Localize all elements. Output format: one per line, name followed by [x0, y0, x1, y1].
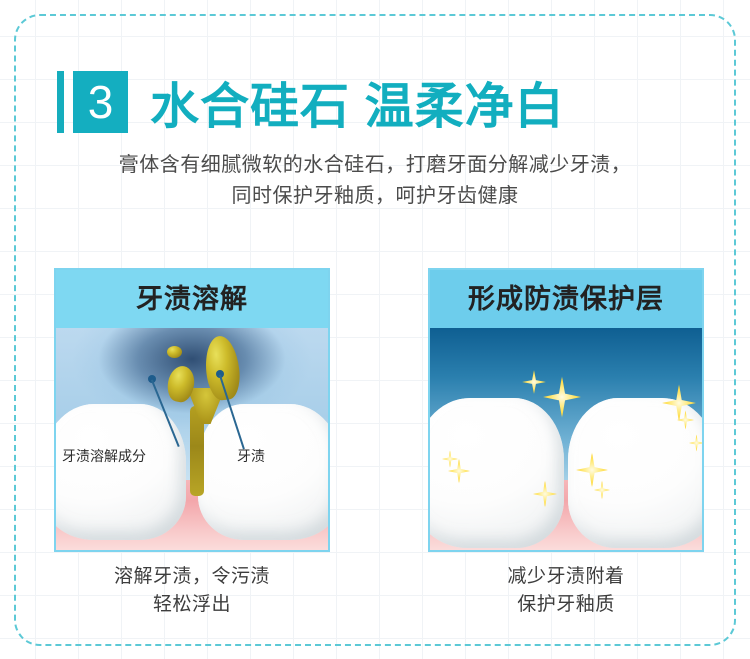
panel-protective-layer: 形成防渍保护层 [428, 268, 704, 552]
caption-right-line-1: 减少牙渍附着 [428, 563, 704, 591]
page-heading: 3 水合硅石 温柔净白 [57, 66, 565, 138]
heading-accent-bar [57, 71, 64, 133]
panel-left-header: 牙渍溶解 [56, 270, 328, 328]
tooth-left [56, 404, 186, 540]
subtitle-block: 膏体含有细腻微软的水合硅石，打磨牙面分解减少牙渍， 同时保护牙釉质，呵护牙齿健康 [0, 150, 750, 212]
panel-right-header: 形成防渍保护层 [430, 270, 702, 328]
subtitle-line-2: 同时保护牙釉质，呵护牙齿健康 [0, 181, 750, 212]
tooth-right [198, 404, 328, 540]
page-background: 3 水合硅石 温柔净白 膏体含有细腻微软的水合硅石，打磨牙面分解减少牙渍， 同时… [0, 0, 750, 659]
caption-left-line-1: 溶解牙渍，令污渍 [54, 563, 330, 591]
caption-protective-layer: 减少牙渍附着 保护牙釉质 [428, 563, 704, 619]
panel-stain-dissolve: 牙渍溶解 牙渍溶解成分 牙渍 [54, 268, 330, 552]
illustration-stain-dissolve: 牙渍溶解成分 牙渍 [56, 328, 328, 550]
sparkle-icon [522, 370, 546, 394]
subtitle-line-1: 膏体含有细腻微软的水合硅石，打磨牙面分解减少牙渍， [0, 150, 750, 181]
callout-label-stain: 牙渍 [237, 446, 265, 466]
sparkle-icon [543, 376, 581, 418]
tooth-left [430, 398, 564, 548]
caption-right-line-2: 保护牙釉质 [428, 591, 704, 619]
illustration-protective-layer [430, 328, 702, 550]
caption-stain-dissolve: 溶解牙渍，令污渍 轻松浮出 [54, 563, 330, 619]
callout-label-dissolving-agent: 牙渍溶解成分 [62, 446, 146, 466]
caption-left-line-2: 轻松浮出 [54, 591, 330, 619]
stain-blob-small-icon [167, 346, 182, 358]
step-number-badge: 3 [73, 71, 128, 133]
page-title: 水合硅石 温柔净白 [150, 67, 565, 138]
